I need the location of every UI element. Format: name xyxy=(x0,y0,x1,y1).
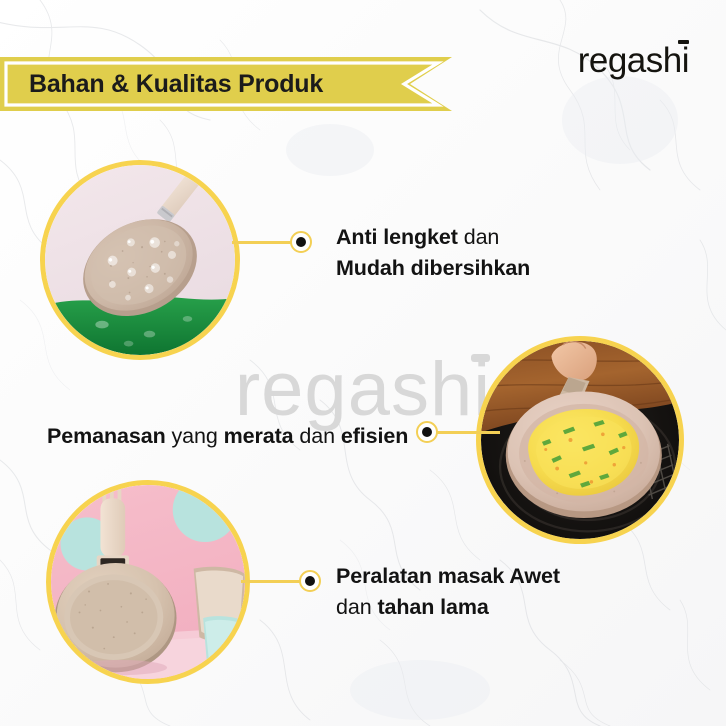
connector-anti-lengket xyxy=(232,231,320,253)
feature-2-bold-1: Pemanasan xyxy=(47,424,166,448)
feature-1-bold-1: Anti lengket xyxy=(336,225,458,249)
brand-logo: regashi xyxy=(578,43,689,78)
feature-1-regular-1: dan xyxy=(458,225,499,249)
connector-pemanasan xyxy=(416,421,500,443)
watermark-text: regashi xyxy=(235,347,491,432)
connector-awet xyxy=(241,570,327,592)
feature-label-anti-lengket: Anti lengket dan Mudah dibersihkan xyxy=(336,222,666,284)
feature-photo-awet xyxy=(46,480,250,684)
feature-2-bold-2: merata xyxy=(224,424,294,448)
feature-photo-pemanasan xyxy=(476,336,684,544)
connector-line xyxy=(241,580,307,583)
feature-2-regular-2: dan xyxy=(294,424,341,448)
feature-3-bold-2: tahan lama xyxy=(377,595,488,619)
brand-logo-text: regashi xyxy=(578,41,689,80)
feature-line-2: Mudah dibersihkan xyxy=(336,253,666,284)
feature-3-bold-1: Peralatan masak Awet xyxy=(336,564,560,588)
connector-line xyxy=(232,241,298,244)
brand-logo-macron-accent xyxy=(678,40,689,44)
connector-line xyxy=(436,431,500,434)
page-title: Bahan & Kualitas Produk xyxy=(29,64,323,104)
feature-line-2: dan tahan lama xyxy=(336,592,666,623)
watermark-macron-accent xyxy=(471,354,490,362)
connector-dot xyxy=(299,570,321,592)
feature-3-regular-1: dan xyxy=(336,595,377,619)
feature-label-pemanasan: Pemanasan yang merata dan efisien xyxy=(47,421,427,452)
connector-dot xyxy=(290,231,312,253)
feature-2-regular-1: yang xyxy=(166,424,224,448)
feature-line-1: Peralatan masak Awet xyxy=(336,561,666,592)
feature-1-bold-2: Mudah dibersihkan xyxy=(336,256,530,280)
feature-line-1: Anti lengket dan xyxy=(336,222,666,253)
feature-2-bold-3: efisien xyxy=(341,424,408,448)
feature-photo-anti-lengket xyxy=(40,160,240,360)
feature-label-awet: Peralatan masak Awet dan tahan lama xyxy=(336,561,666,623)
